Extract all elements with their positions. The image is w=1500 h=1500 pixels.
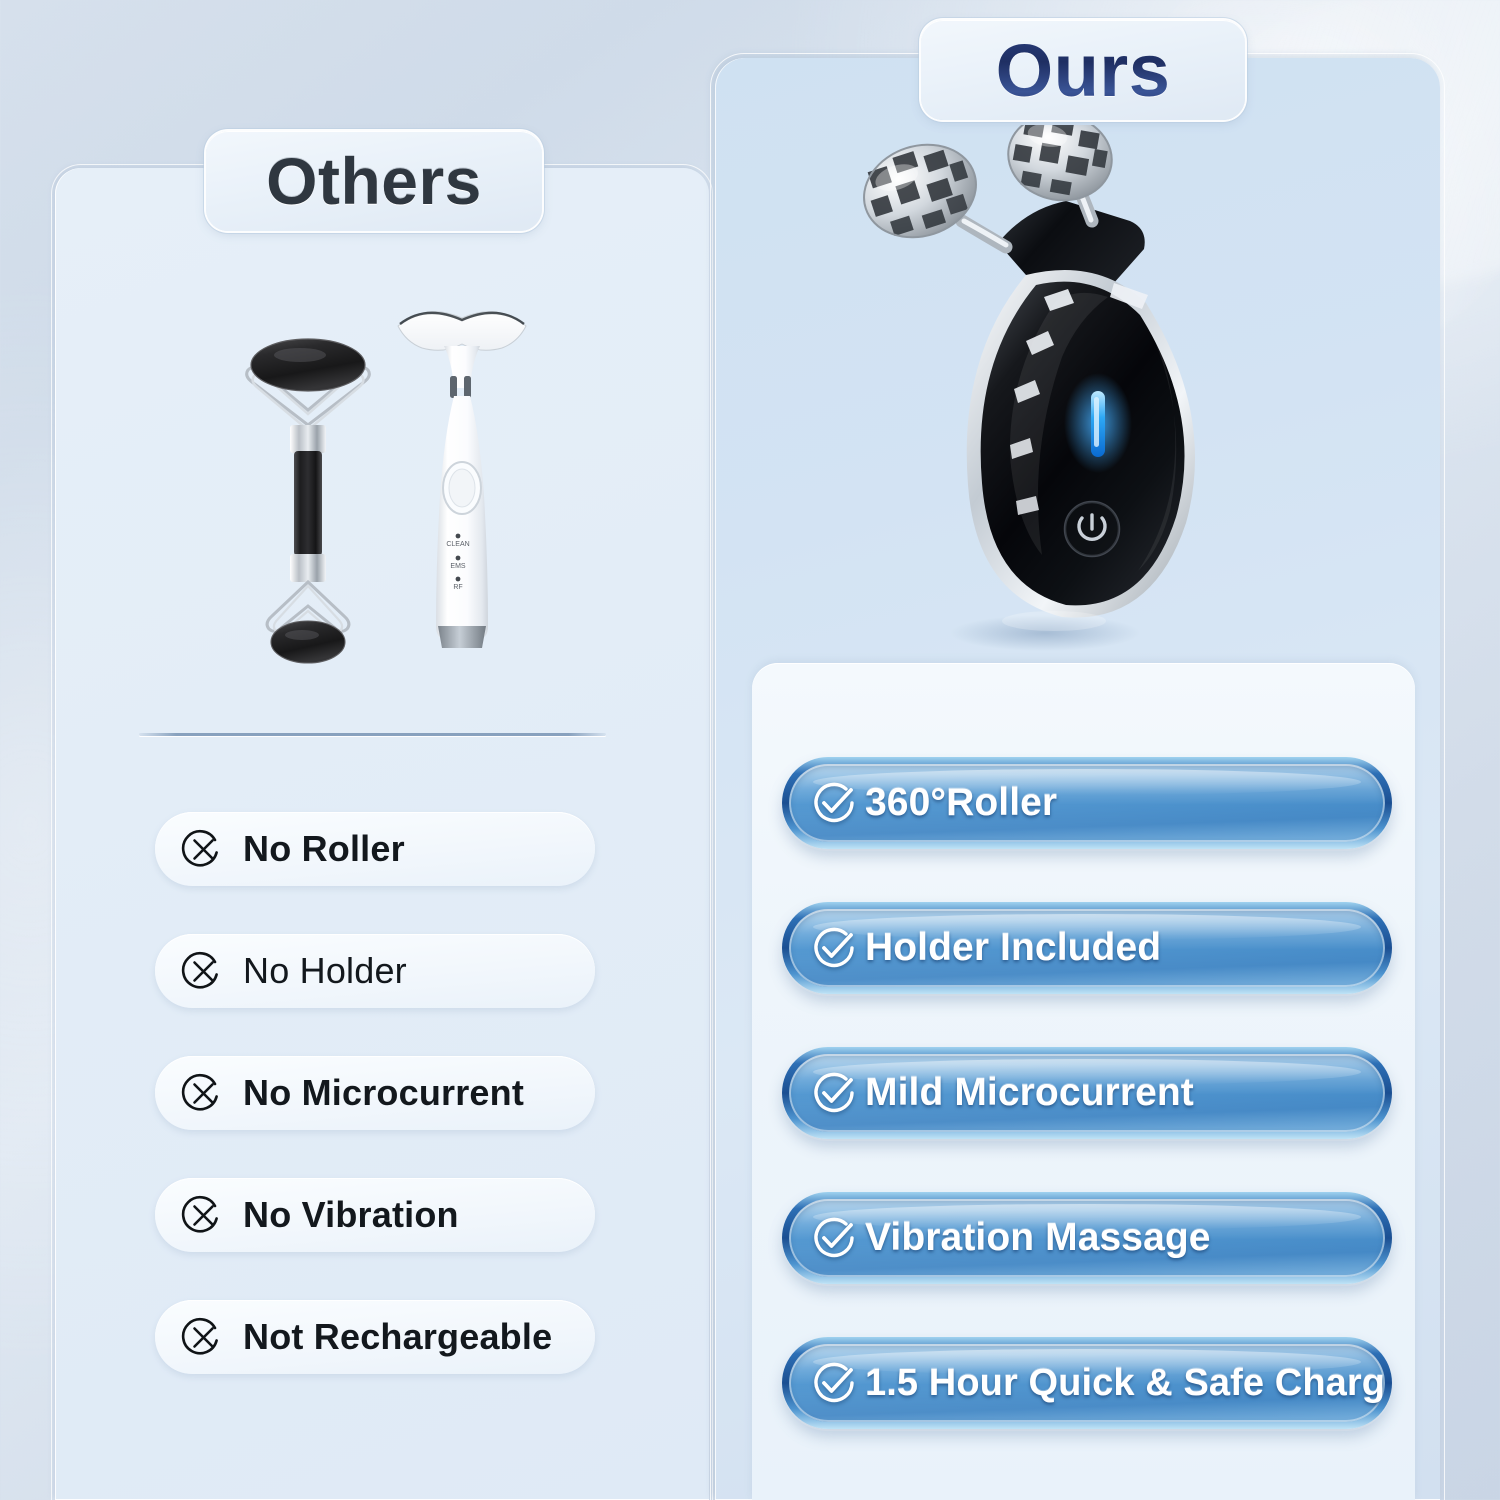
others-feature-item: No Holder [155,934,595,1008]
others-feature-label: No Microcurrent [243,1072,524,1114]
check-circle-icon [809,1213,859,1263]
others-feature-label: Not Rechargeable [243,1316,552,1358]
others-feature-list: No Roller No Holder No Microcurrent [155,812,595,1374]
others-feature-label: No Vibration [243,1194,459,1236]
ours-feature-item-inner: Mild Microcurrent [789,1054,1385,1132]
others-feature-label: No Holder [243,950,407,992]
check-circle-icon [809,923,859,973]
neck-device-product-image: CLEAN EMS RF [392,296,532,664]
check-circle-icon [809,1068,859,1118]
others-title-text: Others [266,143,482,219]
ours-feature-item: Holder Included [782,902,1392,994]
ours-feature-label: Holder Included [865,926,1161,970]
others-feature-label: No Roller [243,828,405,870]
ours-feature-item-inner: 360°Roller [789,764,1385,842]
comparison-infographic: CLEAN EMS RF Others No Roller No [0,0,1500,1500]
ours-feature-item: 360°Roller [782,757,1392,849]
check-circle-icon [809,778,859,828]
others-feature-item: No Roller [155,812,595,886]
others-feature-item: Not Rechargeable [155,1300,595,1374]
ours-feature-item: Vibration Massage [782,1192,1392,1284]
ours-title-text: Ours [996,28,1171,113]
ours-feature-item-inner: Holder Included [789,909,1385,987]
ours-feature-item: Mild Microcurrent [782,1047,1392,1139]
x-circle-icon [181,949,225,993]
ours-feature-item-inner: 1.5 Hour Quick & Safe Charging [789,1344,1385,1422]
ours-title-badge: Ours [921,20,1245,120]
ours-feature-label: Vibration Massage [865,1216,1211,1260]
others-title-badge: Others [206,131,542,231]
svg-text:RF: RF [453,584,462,591]
ours-feature-label: Mild Microcurrent [865,1071,1194,1115]
x-circle-icon [181,1071,225,1115]
ours-feature-item: 1.5 Hour Quick & Safe Charging [782,1337,1392,1429]
others-feature-item: No Microcurrent [155,1056,595,1130]
microcurrent-device-product-image [830,125,1250,655]
ours-feature-label: 1.5 Hour Quick & Safe Charging [865,1362,1385,1405]
ours-feature-label: 360°Roller [865,781,1057,825]
jade-roller-product-image [228,330,388,670]
x-circle-icon [181,827,225,871]
check-circle-icon [809,1358,859,1408]
ours-feature-list: 360°Roller Holder Included Mild Microcur… [782,757,1392,1429]
x-circle-icon [181,1315,225,1359]
others-divider [139,733,606,736]
svg-text:CLEAN: CLEAN [446,541,469,548]
others-feature-item: No Vibration [155,1178,595,1252]
svg-text:EMS: EMS [450,563,466,570]
x-circle-icon [181,1193,225,1237]
ours-feature-item-inner: Vibration Massage [789,1199,1385,1277]
